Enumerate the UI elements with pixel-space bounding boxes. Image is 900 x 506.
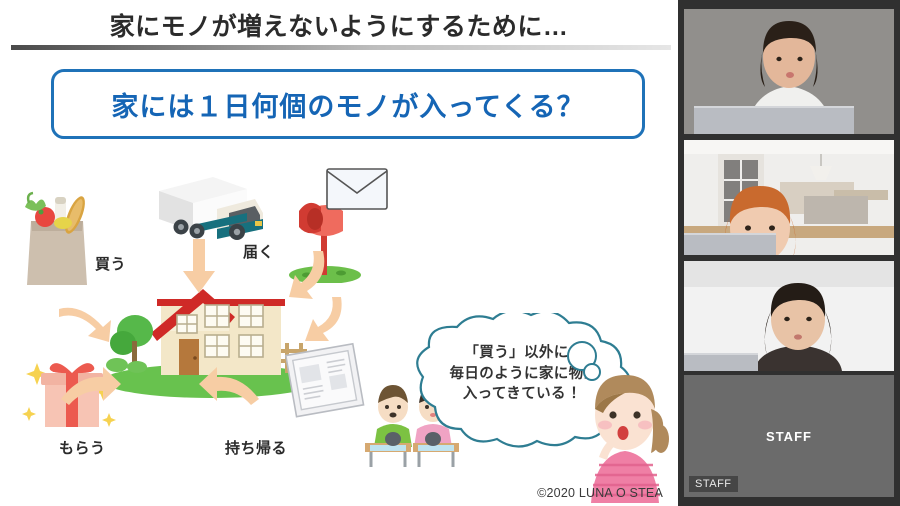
participant-name-badge: STAFF [689,476,738,492]
title-divider [11,45,671,50]
slide-title: 家にモノが増えないようにするために… [3,7,675,43]
shared-slide[interactable]: 家にモノが増えないようにするために… 家には１日何個のモノが入ってくる？ [0,0,678,506]
arrow-bring-home [199,365,263,417]
video-tile-participant-3[interactable] [684,261,894,371]
video-tile-participant-staff[interactable]: STAFF STAFF [684,375,894,497]
flow-diagram: 買う [3,141,678,506]
question-text: 家には１日何個のモノが入ってくる？ [111,85,584,124]
laptop-foreground-3 [684,353,758,371]
label-bring-home: 持ち帰る [225,437,287,458]
laptop-foreground-2 [684,233,776,255]
arrow-to-house [295,291,347,345]
thinking-woman-icon [575,353,675,506]
arrow-buy [53,301,113,353]
participant-panel: STAFF STAFF [678,0,900,506]
slide-canvas: 家にモノが増えないようにするために… 家には１日何個のモノが入ってくる？ [3,3,675,503]
video-tile-participant-1[interactable] [684,9,894,134]
label-deliver: 届く [243,241,274,262]
arrow-deliver [179,237,219,295]
video-tile-participant-2[interactable] [684,140,894,255]
arrow-receive [57,365,121,417]
grocery-bag-icon [11,185,103,289]
laptop-foreground-1 [694,106,854,134]
newspaper-icon [283,339,369,425]
question-box: 家には１日何個のモノが入ってくる？ [51,69,645,139]
envelope-icon [325,165,391,215]
label-receive: もらう [59,437,106,458]
meeting-screen: 家にモノが増えないようにするために… 家には１日何個のモノが入ってくる？ [0,0,900,506]
copyright-text: ©2020 LUNA O STEA [537,486,663,500]
